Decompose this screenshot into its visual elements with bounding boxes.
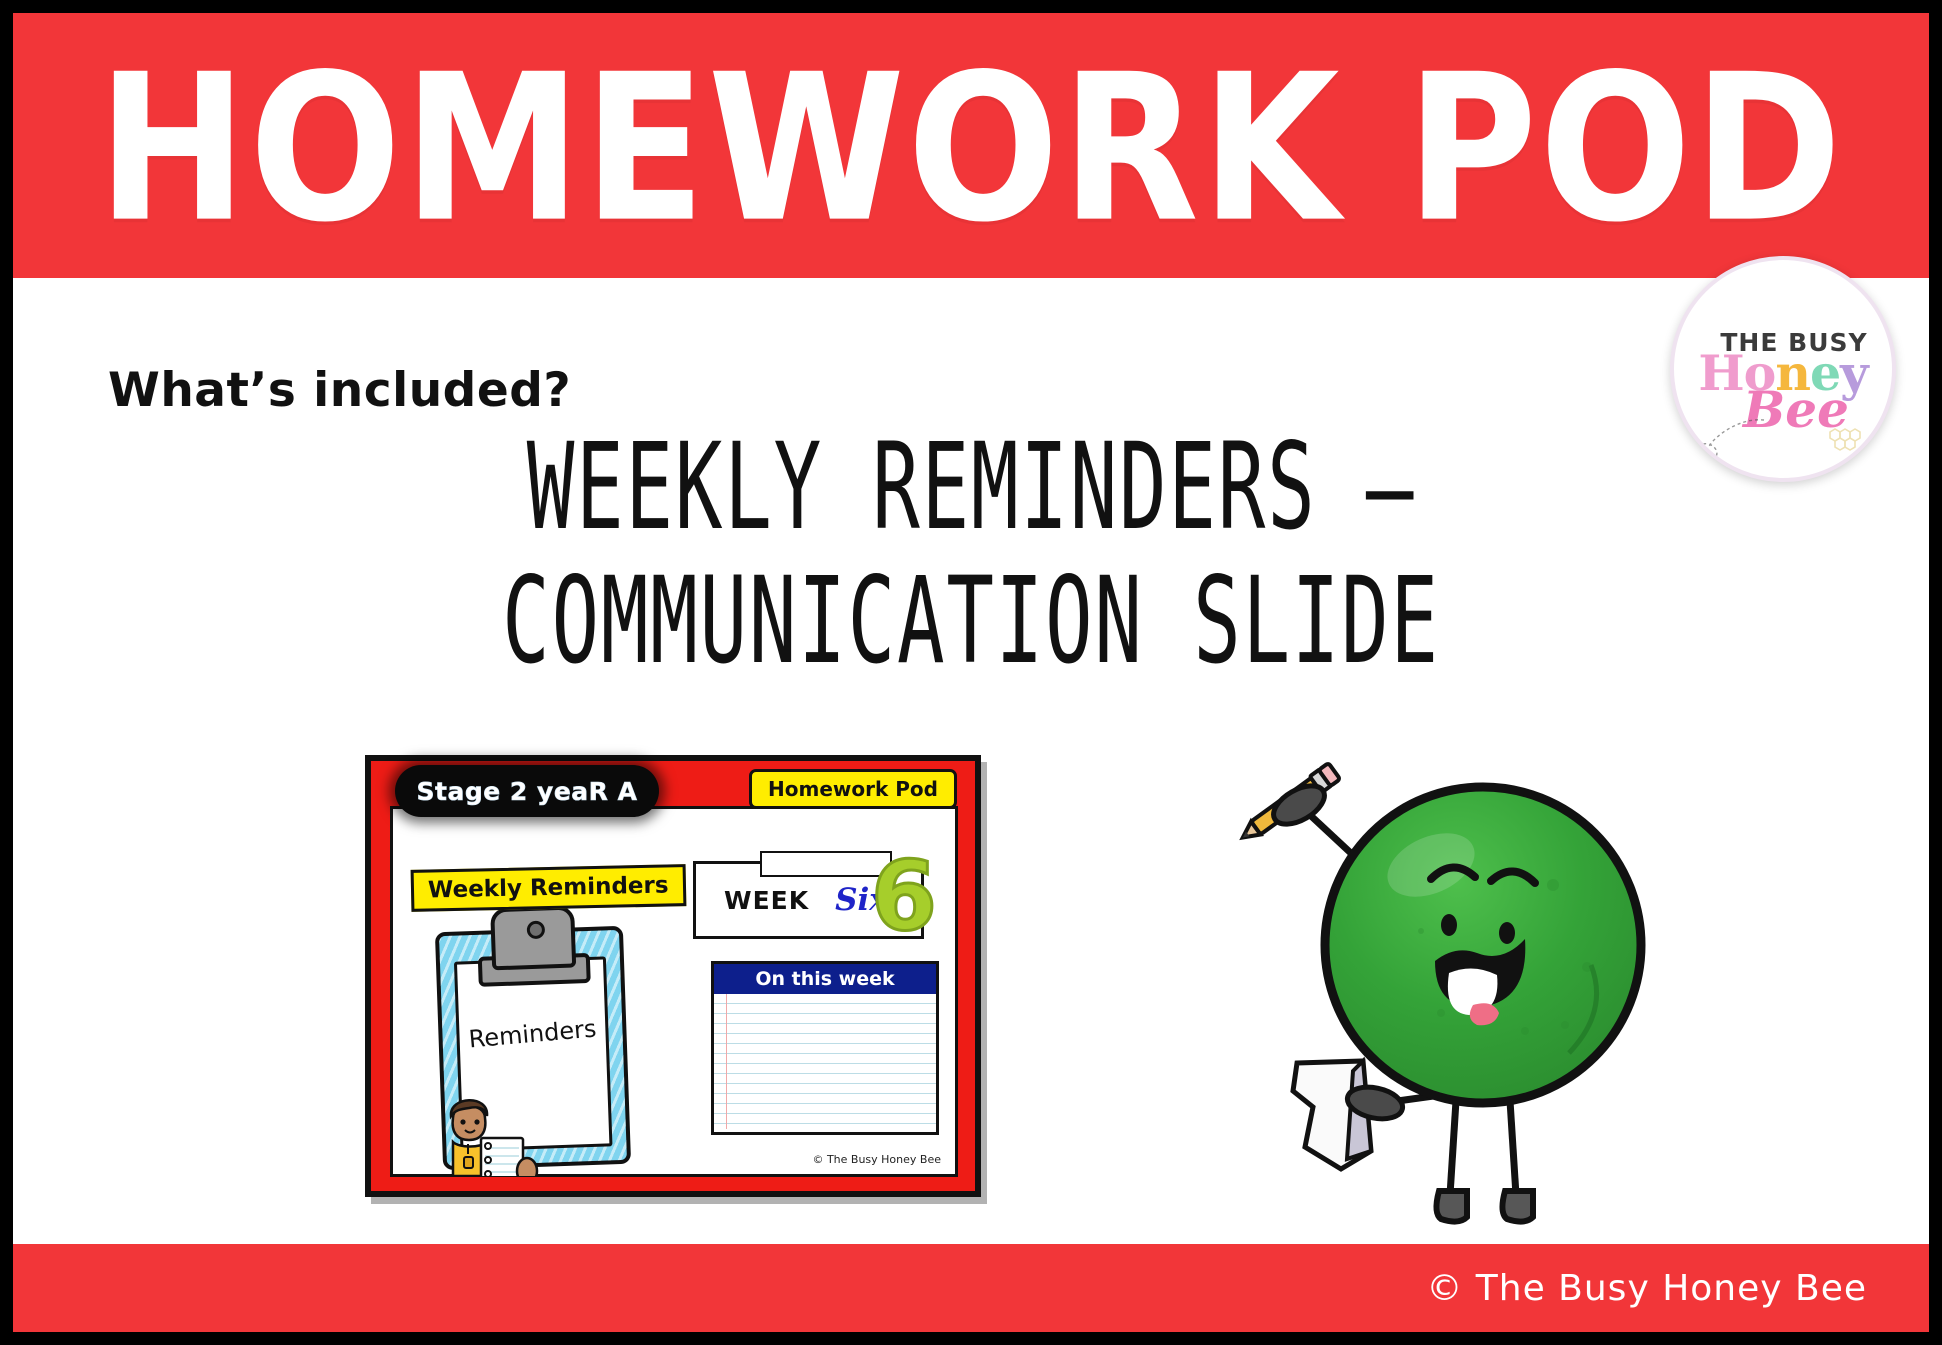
green-pea-character [1235,755,1715,1255]
week-box: WEEK Six 6 [693,861,924,939]
preview-card-watermark: © The Busy Honey Bee [812,1153,941,1166]
main-heading-line-1: WEEKLY REMINDERS – [147,420,1795,554]
footer-credit: © The Busy Honey Bee [1426,1268,1929,1309]
weekly-reminders-badge-label: Weekly Reminders [428,872,669,903]
pea-body [1325,787,1641,1103]
weekly-reminders-badge: Weekly Reminders [411,864,686,912]
homework-pod-badge: Homework Pod [749,769,957,809]
homework-pod-badge-label: Homework Pod [768,777,938,801]
whats-included-label: What’s included? [108,363,571,418]
footer-band: © The Busy Honey Bee [13,1244,1929,1332]
on-this-week-table: On this week [711,961,939,1135]
preview-card-inner: Weekly Reminders WEEK Six 6 On this week… [390,806,958,1177]
page-title: HOMEWORK POD [98,52,1845,245]
stage-pill-label: Stage 2 yeaR A [417,777,638,806]
main-heading-line-2: COMMUNICATION SLIDE [147,554,1795,688]
week-number: 6 [871,850,937,945]
preview-card-thumbnail[interactable]: Weekly Reminders WEEK Six 6 On this week… [365,755,981,1197]
week-label: WEEK [724,886,809,915]
clipboard-clamp-icon [490,905,576,970]
on-this-week-ruled-area [714,994,936,1129]
header-band: HOMEWORK POD [13,13,1929,278]
clipboard-label: Reminders [459,1014,607,1055]
slide-canvas: HOMEWORK POD THE BUSY Honey Bee What’s i… [0,0,1942,1345]
student-character-icon [423,1056,543,1176]
main-heading: WEEKLY REMINDERS – COMMUNICATION SLIDE [147,420,1795,688]
logo-honeycomb-icon [1822,428,1868,458]
stage-pill-badge: Stage 2 yeaR A [395,765,659,817]
on-this-week-title: On this week [755,968,894,990]
on-this-week-table-header: On this week [714,964,936,994]
pea-shoes [1436,1191,1533,1222]
